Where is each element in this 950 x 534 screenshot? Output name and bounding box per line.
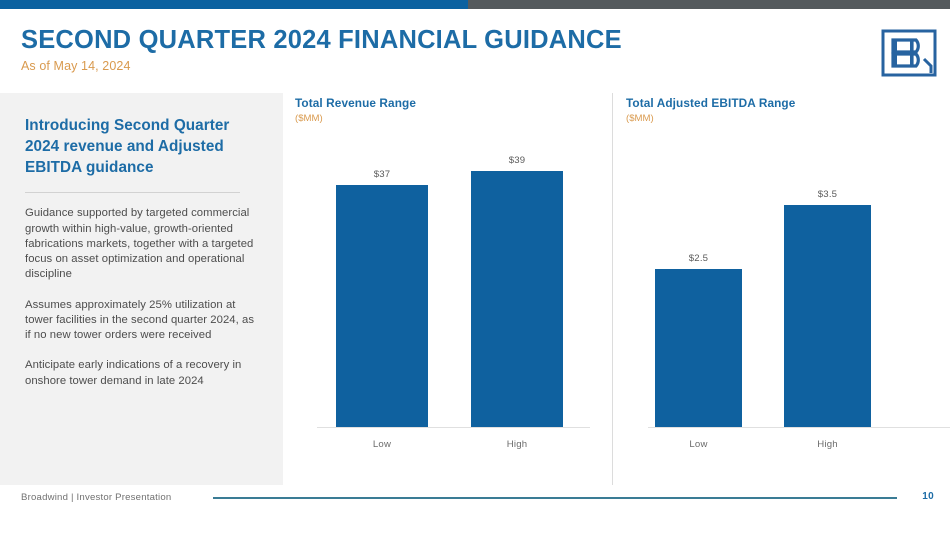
bar-series: $2.5 Low $3.5 High (626, 135, 950, 427)
bar-value-label: $39 (471, 155, 563, 166)
slide-footer: Broadwind | Investor Presentation 10 (0, 486, 950, 534)
slide-header: SECOND QUARTER 2024 FINANCIAL GUIDANCE A… (21, 26, 851, 73)
chart-units-label: ($MM) (626, 113, 950, 124)
sidebar-paragraph-1: Guidance supported by targeted commercia… (25, 206, 261, 282)
charts-region: Total Revenue Range ($MM) $37 Low $39 Hi… (283, 93, 950, 485)
bar-category-label: High (784, 439, 871, 450)
x-axis-line (648, 427, 950, 428)
footer-divider (213, 497, 897, 499)
slide: SECOND QUARTER 2024 FINANCIAL GUIDANCE A… (0, 0, 950, 534)
sidebar-heading: Introducing Second Quarter 2024 revenue … (25, 115, 261, 178)
page-title: SECOND QUARTER 2024 FINANCIAL GUIDANCE (21, 26, 851, 54)
bar-rect[interactable] (471, 171, 563, 427)
bar-rect[interactable] (655, 269, 742, 427)
guidance-summary-panel: Introducing Second Quarter 2024 revenue … (0, 93, 283, 485)
bar-category-label: High (471, 439, 563, 450)
bar-group-low: $2.5 Low (655, 269, 742, 427)
chart-total-revenue-range: Total Revenue Range ($MM) $37 Low $39 Hi… (295, 93, 612, 485)
page-number: 10 (922, 491, 934, 502)
chart-plot-area: $2.5 Low $3.5 High (626, 135, 950, 485)
chart-title: Total Revenue Range (295, 96, 612, 110)
bar-group-high: $3.5 High (784, 205, 871, 427)
page-subtitle: As of May 14, 2024 (21, 59, 851, 73)
bar-series: $37 Low $39 High (295, 135, 612, 427)
chart-plot-area: $37 Low $39 High (295, 135, 612, 485)
sidebar-paragraph-2: Assumes approximately 25% utilization at… (25, 298, 261, 344)
sidebar-divider (25, 192, 240, 193)
broadwind-logo-icon (881, 29, 937, 77)
bar-group-low: $37 Low (336, 185, 428, 427)
top-accent-bar (0, 0, 950, 9)
top-accent-blue-segment (0, 0, 468, 9)
bar-category-label: Low (655, 439, 742, 450)
chart-total-adjusted-ebitda-range: Total Adjusted EBITDA Range ($MM) $2.5 L… (612, 93, 950, 485)
chart-title: Total Adjusted EBITDA Range (626, 96, 950, 110)
bar-group-high: $39 High (471, 171, 563, 427)
bar-value-label: $37 (336, 169, 428, 180)
bar-value-label: $2.5 (655, 253, 742, 264)
chart-units-label: ($MM) (295, 113, 612, 124)
x-axis-line (317, 427, 590, 428)
bar-category-label: Low (336, 439, 428, 450)
top-accent-gray-segment (468, 0, 950, 9)
bar-rect[interactable] (336, 185, 428, 427)
footer-label: Broadwind | Investor Presentation (21, 492, 171, 503)
bar-rect[interactable] (784, 205, 871, 427)
sidebar-paragraph-3: Anticipate early indications of a recove… (25, 358, 261, 389)
bar-value-label: $3.5 (784, 189, 871, 200)
